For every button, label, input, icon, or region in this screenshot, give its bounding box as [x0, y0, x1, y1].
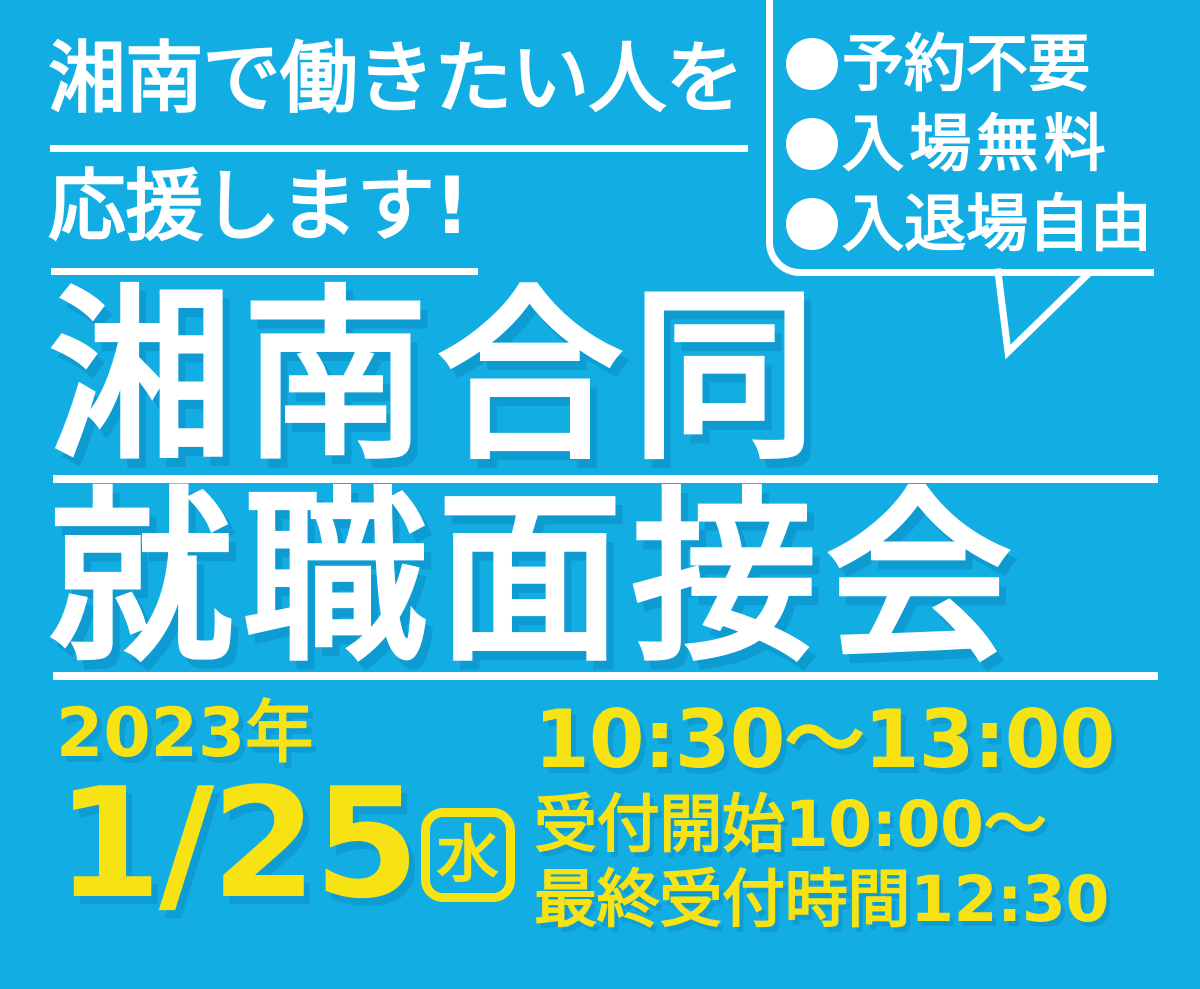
callout-item-free-admission: 入場無料: [786, 104, 1158, 184]
callout-bullet-list: 予約不要 入場無料 入退場自由: [786, 24, 1158, 264]
event-date-block: 2023年 1/25 水: [56, 700, 526, 914]
callout-item-label: 予約不要: [842, 33, 1090, 95]
callout-item-label: 入退場自由: [842, 193, 1152, 255]
poster-canvas: 湘南で働きたい人を 応援します! 予約不要 入場無料 入退場自由 湘南合同 就職…: [0, 0, 1200, 989]
weekday-label: 水: [437, 824, 499, 886]
lead-underline-1: [50, 145, 748, 152]
event-time-block: 10:30〜13:00 受付開始10:00〜 最終受付時間12:30: [534, 698, 1194, 935]
event-date-row: 1/25 水: [56, 774, 526, 914]
event-title-line-2: 就職面接会: [48, 486, 1020, 672]
bullet-dot-icon: [786, 118, 838, 170]
weekday-badge: 水: [421, 808, 515, 902]
lead-copy-line-1: 湘南で働きたい人を: [48, 40, 743, 118]
bullet-dot-icon: [786, 38, 838, 90]
reception-open-time: 受付開始10:00〜: [534, 790, 1194, 861]
title-underline-2: [53, 672, 1158, 680]
callout-item-free-entry-exit: 入退場自由: [786, 184, 1158, 264]
event-day: 1/25: [56, 774, 417, 914]
event-title-line-1: 湘南合同: [48, 284, 825, 470]
callout-item-no-reservation: 予約不要: [786, 24, 1158, 104]
bullet-dot-icon: [786, 198, 838, 250]
callout-item-label: 入場無料: [842, 113, 1111, 175]
event-time-range: 10:30〜13:00: [534, 698, 1194, 782]
reception-last-time: 最終受付時間12:30: [534, 865, 1194, 936]
callout-bubble-tail-icon: [990, 268, 1170, 364]
lead-copy-line-2: 応援します!: [48, 168, 469, 246]
